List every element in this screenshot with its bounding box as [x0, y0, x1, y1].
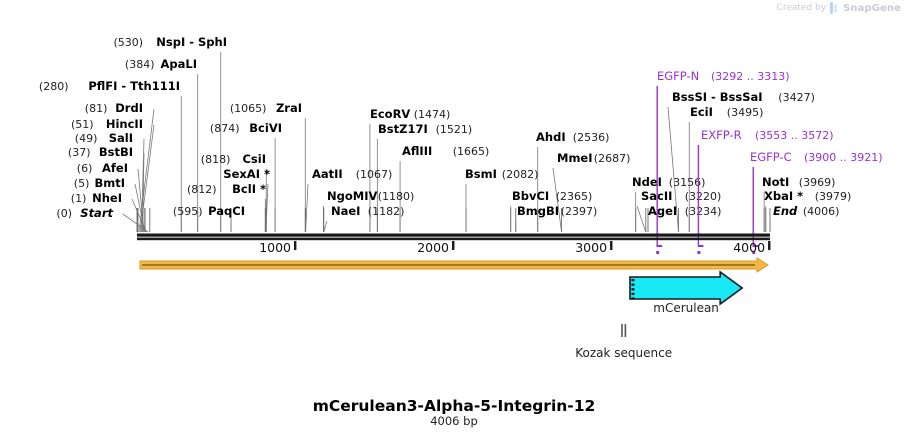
enzyme-position: (49) — [75, 132, 98, 145]
enzyme-label: BbvCI — [512, 189, 549, 203]
primer-endpoint-marker — [656, 251, 659, 254]
enzyme-label: PaqCI — [208, 204, 245, 218]
enzyme-position: (812) — [187, 183, 217, 196]
ruler-tick — [294, 241, 296, 250]
enzyme-position: (530) — [114, 36, 144, 49]
enzyme-label: SalI — [109, 131, 133, 145]
enzyme-position: (2687) — [594, 152, 631, 165]
feature-truncation-hatch — [632, 288, 635, 290]
enzyme-position: (280) — [39, 80, 69, 93]
enzyme-label: BclI * — [232, 182, 266, 196]
enzyme-label: NotI — [762, 175, 789, 189]
enzyme-position: (1067) — [356, 168, 393, 181]
enzyme-label: CsiI — [242, 152, 266, 166]
enzyme-label: PflFI - Tth111I — [88, 79, 180, 93]
primer-arrow-foot — [698, 245, 703, 247]
enzyme-label: BmgBI — [517, 204, 559, 218]
ruler-label: 3000 — [575, 240, 607, 255]
enzyme-label: EcoRV — [370, 107, 410, 121]
enzyme-position: (1521) — [436, 123, 473, 136]
kozak-marker — [625, 324, 627, 337]
primer-label: EGFP-N — [657, 69, 699, 83]
enzyme-position: (3156) — [669, 176, 706, 189]
enzyme-label: NaeI — [331, 204, 360, 218]
enzyme-label: MmeI — [557, 151, 593, 165]
title-group: mCerulean3-Alpha-5-Integrin-124006 bp — [313, 397, 596, 428]
sequence-length-label: 4006 bp — [430, 414, 478, 428]
ruler-label: 4000 — [733, 240, 765, 255]
enzyme-position: (81) — [85, 102, 108, 115]
enzyme-label: Start — [80, 206, 113, 220]
feature-label-mcerulean: mCerulean — [653, 301, 719, 315]
enzyme-position: (2365) — [556, 190, 593, 203]
primer-range: (3900 .. 3921) — [804, 151, 883, 164]
enzyme-position: (2397) — [561, 205, 598, 218]
ruler-tick — [610, 241, 612, 250]
ruler-label: 2000 — [417, 240, 449, 255]
ruler-label: 1000 — [259, 240, 291, 255]
backbone-top-strand — [137, 234, 770, 237]
enzyme-label: NgoMIV — [327, 189, 377, 203]
enzyme-position: (6) — [77, 162, 93, 175]
enzyme-label: BssSI - BssSaI — [672, 90, 763, 104]
feature-arrow-mcerulean — [630, 272, 742, 304]
leader-line — [324, 221, 327, 232]
feature-truncation-hatch — [632, 297, 635, 299]
ruler-tick — [768, 241, 770, 250]
enzyme-label: XbaI * — [764, 189, 803, 203]
enzyme-position: (1) — [71, 192, 87, 205]
enzyme-position: (3220) — [685, 190, 722, 203]
kozak-marker — [621, 324, 623, 337]
feature-truncation-hatch — [632, 279, 635, 281]
enzyme-position: (3979) — [815, 190, 852, 203]
enzyme-label: AatII — [312, 167, 343, 181]
enzyme-label: BciVI — [249, 121, 282, 135]
enzyme-label: ApaLI — [161, 57, 198, 71]
enzyme-position: (384) — [125, 58, 155, 71]
enzyme-label: EciI — [690, 105, 713, 119]
enzyme-label: BstBI — [99, 145, 133, 159]
backbone-bottom-strand — [137, 238, 770, 241]
leader-line — [637, 206, 646, 232]
enzyme-label: AfeI — [102, 161, 128, 175]
primer-range: (3553 .. 3572) — [755, 129, 834, 142]
enzyme-label: BsmI — [465, 167, 497, 181]
enzyme-label: NheI — [92, 191, 122, 205]
primer-endpoint-marker — [697, 251, 700, 254]
enzyme-position: (37) — [68, 146, 91, 159]
enzyme-position: (51) — [71, 118, 94, 131]
enzyme-label: ZraI — [276, 101, 302, 115]
enzyme-position: (595) — [173, 205, 203, 218]
enzyme-position: (0) — [56, 207, 72, 220]
enzyme-label: AflIII — [402, 144, 432, 158]
enzyme-position: (818) — [201, 153, 231, 166]
enzyme-position: (3427) — [778, 91, 815, 104]
enzyme-label: HincII — [106, 117, 143, 131]
primer-label: EXFP-R — [701, 128, 742, 142]
enzyme-position: (1665) — [453, 145, 490, 158]
enzyme-position: (3234) — [685, 205, 722, 218]
primer-range: (3292 .. 3313) — [711, 70, 790, 83]
primer-arrow-foot — [657, 245, 662, 247]
feature-truncation-hatch — [632, 284, 635, 286]
enzyme-position: (1474) — [414, 108, 451, 121]
enzyme-label: AgeI — [648, 204, 677, 218]
backbone-group — [137, 234, 770, 241]
enzyme-label: BmtI — [94, 176, 125, 190]
enzyme-position: (4006) — [803, 205, 840, 218]
enzyme-position: (2082) — [502, 168, 539, 181]
enzyme-position: (1182) — [368, 205, 405, 218]
features-group: mCeruleanKozak sequence — [140, 258, 768, 360]
enzyme-position: (874) — [210, 122, 240, 135]
enzyme-label: BstZ17I — [378, 122, 428, 136]
enzyme-label: NspI - SphI — [156, 35, 227, 49]
enzyme-position: (1180) — [378, 190, 415, 203]
enzyme-label: SexAI * — [223, 167, 270, 181]
enzyme-label: AhdI — [536, 130, 566, 144]
feature-truncation-hatch — [632, 293, 635, 295]
feature-label-kozak: Kozak sequence — [575, 346, 672, 360]
enzyme-label: DrdI — [115, 101, 143, 115]
enzyme-position: (1065) — [230, 102, 267, 115]
primer-label: EGFP-C — [750, 150, 792, 164]
enzyme-position: (2536) — [573, 131, 610, 144]
enzyme-position: (3495) — [727, 106, 764, 119]
leader-line — [123, 214, 148, 232]
plasmid-map-canvas: NspI - SphI(530)ApaLI(384)PflFI - Tth111… — [0, 0, 909, 436]
page-title: mCerulean3-Alpha-5-Integrin-12 — [313, 397, 596, 415]
enzyme-position: (3969) — [799, 176, 836, 189]
enzyme-position: (5) — [74, 177, 90, 190]
enzyme-label: End — [773, 204, 798, 218]
ruler-group: 1000200030004000 — [259, 240, 770, 255]
ruler-tick — [452, 241, 454, 250]
